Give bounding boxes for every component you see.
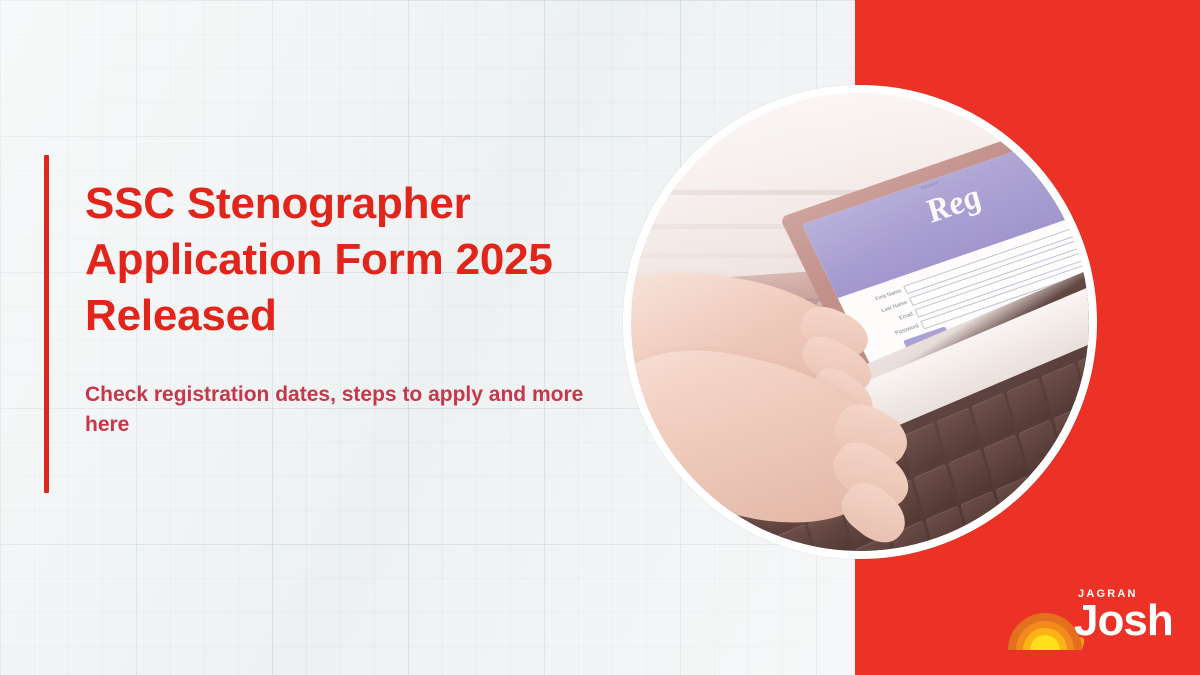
left-accent-bar bbox=[44, 155, 49, 493]
headline-line-2: Application Form 2025 bbox=[85, 232, 645, 288]
jagran-josh-logo[interactable]: JAGRAN Josh bbox=[1008, 588, 1186, 656]
sunrise-icon bbox=[1008, 611, 1082, 650]
subheadline: Check registration dates, steps to apply… bbox=[85, 344, 605, 440]
hero-photo: Account Reg First Name Last Name Email bbox=[631, 93, 1089, 551]
headline-block: SSC Stenographer Application Form 2025 R… bbox=[85, 176, 645, 440]
hero-photo-circle: Account Reg First Name Last Name Email bbox=[623, 85, 1097, 559]
page-title: SSC Stenographer Application Form 2025 R… bbox=[85, 176, 645, 344]
logo-josh-text: Josh bbox=[1074, 598, 1173, 644]
headline-line-3: Released bbox=[85, 288, 645, 344]
news-banner: SSC Stenographer Application Form 2025 R… bbox=[0, 0, 1200, 675]
headline-line-1: SSC Stenographer bbox=[85, 176, 645, 232]
